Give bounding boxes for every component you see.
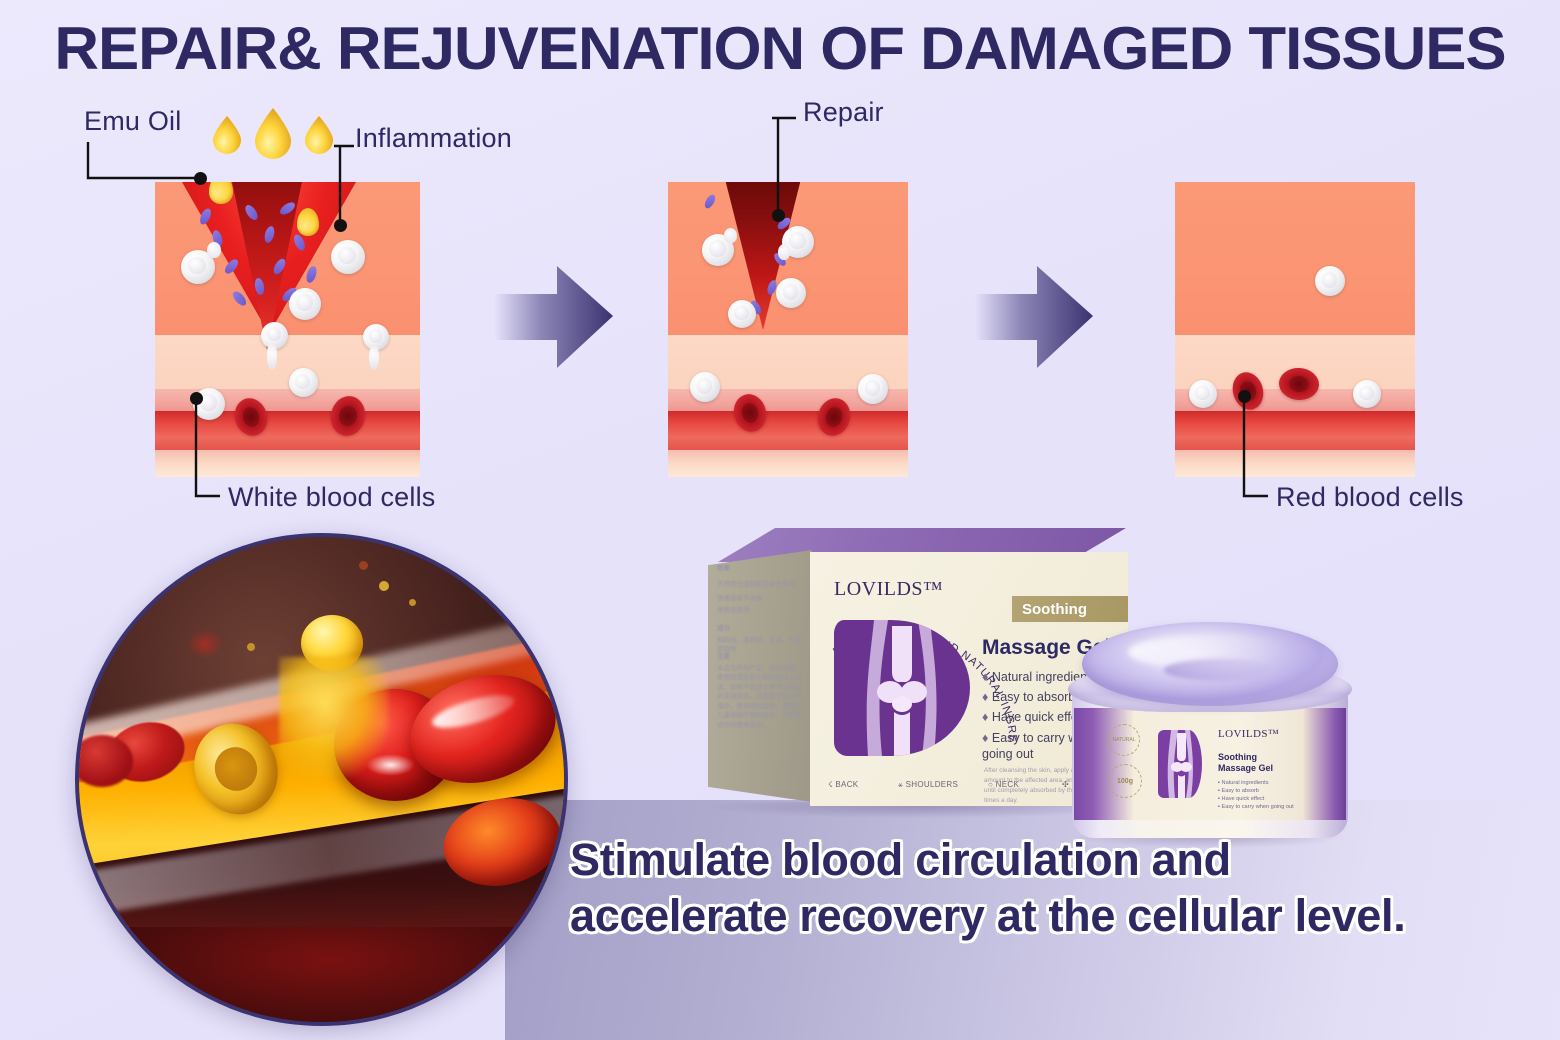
blood-vessel-layer (1175, 411, 1415, 455)
seal-net-weight: 100g (1108, 764, 1142, 798)
side-bullet: 便携易携带 (717, 606, 803, 615)
leader-white-blood-cells (190, 396, 236, 506)
leader-repair (770, 112, 812, 220)
side-note: 本品为外用产品，请勿内服。使用前请先在小面积皮肤上测试，如有不适请立即停止使用并… (717, 664, 803, 730)
side-ingredients-heading: 成分 (717, 624, 803, 633)
caption-line-1: Stimulate blood circulation and (570, 832, 1520, 888)
white-blood-cell (728, 300, 756, 328)
emu-oil-drop (297, 208, 319, 236)
use-area-back: ☇ BACK (828, 780, 858, 789)
side-bullet: 天然成分温和配方安全有效 (717, 580, 803, 589)
bullet-icon: ▪ (1218, 780, 1220, 786)
blurred-cell (187, 629, 223, 659)
stage-2-repairing-wound (668, 182, 908, 477)
process-arrow-2 (975, 258, 1095, 378)
jar-feature: ▪ Easy to carry when going out (1218, 804, 1294, 810)
white-blood-cell-pseudopod (724, 228, 737, 243)
infographic-canvas: REPAIR& REJUVENATION OF DAMAGED TISSUES (0, 0, 1560, 1040)
droplet-bullet-icon: ♦ (982, 731, 988, 745)
leader-inflammation (332, 140, 372, 230)
jar-feature: ▪ Natural ingredients (1218, 780, 1269, 786)
lower-blood-glow (79, 927, 568, 1026)
white-blood-cell (858, 374, 888, 404)
white-blood-cell-pseudopod (369, 346, 379, 370)
oil-splash (279, 657, 389, 777)
bullet-icon: ▪ (1218, 788, 1220, 794)
process-arrow-1 (495, 258, 615, 378)
jar-label: NATURAL 100g LOVILDS™ Soothing Massage G… (1074, 708, 1346, 820)
jar-product-line1: Soothing (1218, 752, 1257, 762)
page-title: REPAIR& REJUVENATION OF DAMAGED TISSUES (0, 14, 1560, 83)
shoulders-icon: ⚹ (898, 780, 903, 789)
seal-natural: NATURAL (1108, 724, 1140, 756)
droplet-bullet-icon: ♦ (982, 690, 988, 704)
jar-feature-label: Have quick effect (1222, 796, 1265, 802)
stage-3-healed-skin (1175, 182, 1415, 477)
jar-brand: LOVILDS™ (1218, 728, 1279, 740)
label-repair: Repair (803, 97, 884, 128)
side-note-heading: 注意 (717, 652, 803, 661)
caption-text: Stimulate blood circulation and accelera… (570, 832, 1520, 945)
seal-natural-label: NATURAL (1113, 737, 1136, 743)
blood-vessel-layer (668, 411, 908, 455)
jar-product-line2: Massage Gel (1218, 763, 1273, 773)
leader-dot-red-blood-cells (1238, 390, 1251, 403)
back-icon: ☇ (828, 780, 833, 789)
leader-dot-inflammation (334, 219, 347, 232)
side-heading: 效果 (717, 564, 801, 573)
caption-line-2: accelerate recovery at the cellular leve… (570, 888, 1520, 944)
label-emu-oil: Emu Oil (84, 106, 181, 137)
white-blood-cell-pseudopod (207, 242, 221, 258)
droplet-bullet-icon: ♦ (982, 710, 988, 724)
label-red-blood-cells: Red blood cells (1276, 482, 1464, 513)
subcutaneous-layer (1175, 450, 1415, 477)
jar-feature-label: Natural ingredients (1222, 780, 1269, 786)
white-blood-cell (690, 372, 720, 402)
use-area-label: BACK (835, 780, 858, 789)
net-weight-label: 100g (1117, 778, 1133, 785)
leader-dot-repair (772, 209, 785, 222)
leader-red-blood-cells (1238, 396, 1284, 506)
oil-bubble (409, 599, 416, 606)
oil-bubble (359, 561, 368, 570)
bullet-icon: ▪ (1218, 804, 1220, 810)
jar-feature: ▪ Easy to absorb (1218, 788, 1259, 794)
white-blood-cell (331, 240, 365, 274)
neck-icon: ○ (988, 780, 993, 789)
jar-knee-illustration (1158, 730, 1202, 798)
use-area-label: SHOULDERS (906, 780, 959, 789)
blood-vessel-photo (75, 533, 568, 1026)
droplet-bullet-icon: ♦ (982, 670, 988, 684)
jar-feature-label: Easy to absorb (1222, 788, 1259, 794)
product-jar: NATURAL 100g LOVILDS™ Soothing Massage G… (1060, 600, 1360, 860)
epidermis-layer (1175, 182, 1415, 347)
label-inflammation: Inflammation (355, 123, 512, 154)
jar-feature-label: Easy to carry when going out (1222, 804, 1294, 810)
use-area-neck: ○ NECK (988, 780, 1019, 789)
leader-dot-emu-oil (194, 172, 207, 185)
leader-dot-white-blood-cells (190, 392, 203, 405)
use-area-label: NECK (996, 780, 1019, 789)
bullet-icon: ▪ (1218, 796, 1220, 802)
gel-swirl (1164, 659, 1277, 681)
white-blood-cell-pseudopod (267, 344, 277, 370)
side-bullet: 快速吸收不油腻 (717, 594, 803, 603)
jar-gel (1082, 622, 1338, 706)
subcutaneous-layer (668, 450, 908, 477)
white-blood-cell-pseudopod (778, 244, 790, 260)
oil-bubble (379, 581, 389, 591)
oil-bubble (247, 643, 255, 651)
white-blood-cell (1353, 380, 1381, 408)
white-blood-cell (1315, 266, 1345, 296)
white-blood-cell (289, 368, 318, 397)
label-white-blood-cells: White blood cells (228, 482, 436, 513)
white-blood-cell (289, 288, 321, 320)
use-area-shoulders: ⚹ SHOULDERS (898, 780, 958, 790)
jar-feature: ▪ Have quick effect (1218, 796, 1264, 802)
white-blood-cell (776, 278, 806, 308)
box-side-panel: 效果 天然成分温和配方安全有效 快速吸收不油腻 便携易携带 成分 鸸鹋油、薄荷醇… (708, 550, 812, 802)
white-blood-cell (1189, 380, 1217, 408)
